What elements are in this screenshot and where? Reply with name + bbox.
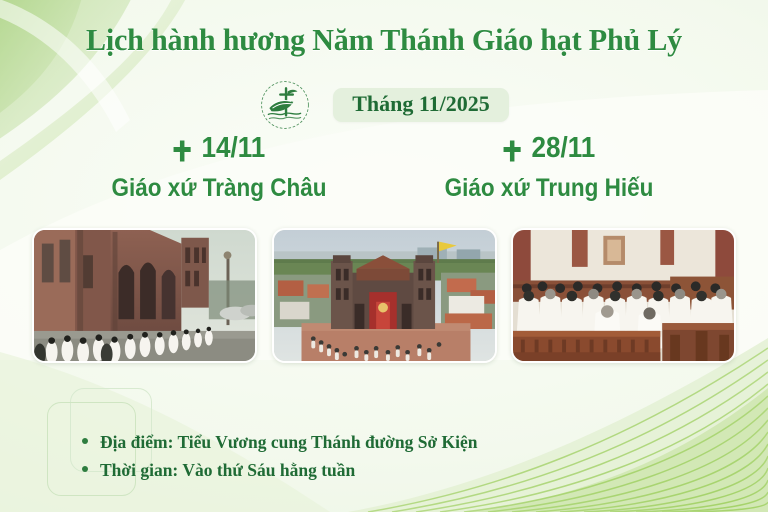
photo-card-1	[32, 228, 257, 363]
diocese-boat-cross-emblem-icon	[259, 79, 311, 131]
header-row: Tháng 11/2025	[0, 79, 768, 131]
event-date-1: 14/11	[201, 133, 265, 165]
brick-gothic-church-procession-image	[34, 230, 255, 361]
info-list: Địa điểm: Tiểu Vương cung Thánh đường Sở…	[78, 428, 638, 485]
photo-card-3	[511, 228, 736, 363]
month-badge: Tháng 11/2025	[333, 88, 509, 122]
photo-gallery	[32, 228, 736, 363]
photo-card-2	[272, 228, 497, 363]
page-title: Lịch hành hương Năm Thánh Giáo hạt Phủ L…	[12, 22, 757, 58]
cross-icon	[173, 138, 191, 160]
so-kien-basilica-aerial-view-image	[274, 230, 495, 361]
pilgrimage-schedule-poster: Lịch hành hương Năm Thánh Giáo hạt Phủ L…	[0, 0, 768, 512]
event-date-row-2: 28/11	[401, 133, 698, 165]
cross-icon	[503, 138, 521, 160]
event-item-2: 28/11 Giáo xứ Trung Hiếu	[384, 133, 714, 203]
event-parish-2: Giáo xứ Trung Hiếu	[401, 174, 698, 203]
event-date-2: 28/11	[531, 133, 595, 165]
list-item: Địa điểm: Tiểu Vương cung Thánh đường Sở…	[78, 428, 638, 456]
congregation-praying-in-pews-image	[513, 230, 734, 361]
event-parish-1: Giáo xứ Tràng Châu	[71, 174, 368, 203]
events-row: 14/11 Giáo xứ Tràng Châu 28/11 Giáo xứ T…	[0, 133, 768, 203]
event-item-1: 14/11 Giáo xứ Tràng Châu	[54, 133, 384, 203]
event-date-row-1: 14/11	[71, 133, 368, 165]
list-item: Thời gian: Vào thứ Sáu hằng tuần	[78, 456, 638, 484]
